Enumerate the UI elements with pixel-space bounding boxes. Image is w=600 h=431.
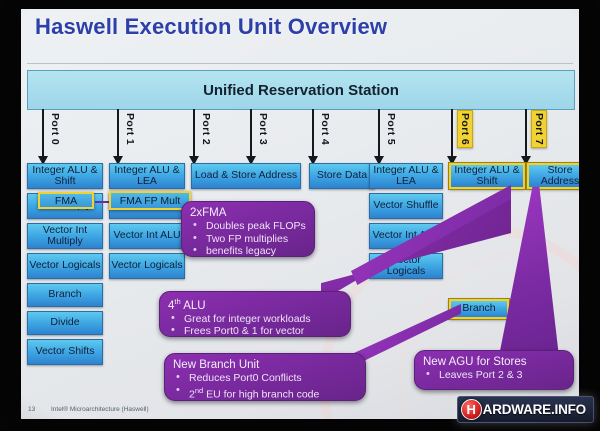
callout-4th-alu-heading-rest: ALU [181, 300, 206, 312]
unit-port0-vector-shifts: Vector Shifts [27, 339, 103, 365]
unit-port0-vector-int-multiply: Vector Int Multiply [27, 223, 103, 249]
unit-port0-branch: Branch [27, 283, 103, 307]
callout-new-branch-unit-bullet-1: Reduces Port0 Conflicts [173, 372, 357, 385]
unit-port0-integer-alu-shift: Integer ALU & Shift [27, 163, 103, 189]
callout-new-branch-unit-bullets: Reduces Port0 Conflicts 2nd EU for high … [173, 372, 357, 401]
hardware-info-text: ARDWARE.INFO [483, 402, 586, 417]
port-label-port5: Port 5 [385, 113, 397, 145]
callout-new-branch-unit: New Branch Unit Reduces Port0 Conflicts … [164, 353, 366, 401]
presentation-slide: Haswell Execution Unit Overview Unified … [21, 9, 579, 419]
callout-2xfma-bullets: Doubles peak FLOPs Two FP multiplies ben… [190, 220, 306, 258]
port1-arrow [117, 109, 119, 157]
callout-4th-alu-bullet-2: Frees Port0 & 1 for vector [168, 325, 342, 338]
port5-arrow [378, 109, 380, 157]
unit-port23-load-store-address: Load & Store Address [191, 163, 301, 189]
port-label-port4: Port 4 [319, 113, 331, 145]
callout-new-branch-unit-bullet-2: 2nd EU for high branch code [173, 385, 357, 401]
unit-port5-integer-alu-lea: Integer ALU & LEA [369, 163, 443, 189]
callout-4th-alu: 4th ALU Great for integer workloads Free… [159, 291, 351, 337]
callout-new-agu: New AGU for Stores Leaves Port 2 & 3 [414, 350, 574, 390]
port2-arrow [193, 109, 195, 157]
port6-arrow [451, 109, 453, 157]
callout-new-branch-unit-heading: New Branch Unit [173, 359, 357, 371]
callout-4th-alu-heading: 4th ALU [168, 297, 342, 312]
title-divider [27, 63, 573, 64]
unit-port1-vector-logicals: Vector Logicals [109, 253, 185, 279]
slide-number: 13 [28, 406, 35, 413]
unit-port0-vector-logicals: Vector Logicals [27, 253, 103, 279]
port0-arrow [42, 109, 44, 157]
unit-port5-vector-shuffle: Vector Shuffle [369, 193, 443, 219]
slide-title: Haswell Execution Unit Overview [35, 14, 387, 40]
port-label-port0: Port 0 [49, 113, 61, 145]
port-label-port2: Port 2 [200, 113, 212, 145]
unit-port0-divide: Divide [27, 311, 103, 335]
hardware-info-h-icon: H [461, 399, 482, 420]
port-label-port1: Port 1 [124, 113, 136, 145]
unified-reservation-station-label: Unified Reservation Station [203, 82, 399, 99]
callout-branch-bullet2-sup: nd [195, 386, 203, 395]
callout-new-agu-heading: New AGU for Stores [423, 356, 565, 368]
callout-2xfma-bullet-1: Doubles peak FLOPs [190, 220, 306, 233]
unified-reservation-station-box: Unified Reservation Station [27, 70, 575, 110]
callout-2xfma-heading: 2xFMA [190, 207, 306, 219]
callout-new-agu-bullet-1: Leaves Port 2 & 3 [423, 369, 565, 382]
unit-port1-vector-int-alu: Vector Int ALU [109, 223, 185, 249]
annotation-fma-port0: FMA [38, 192, 94, 209]
photographed-slide-photo: Haswell Execution Unit Overview Unified … [0, 0, 600, 431]
port3-arrow [250, 109, 252, 157]
unit-port4-store-data: Store Data [309, 163, 375, 189]
annotation-fma-port1: FMA FP Mult [109, 191, 191, 210]
port-label-port3: Port 3 [257, 113, 269, 145]
callout-2xfma-bullet-2-cont: benefits legacy [190, 245, 306, 258]
unit-port1-integer-alu-lea: Integer ALU & LEA [109, 163, 185, 189]
callout-branch-bullet2-rest: EU for high branch code [203, 388, 319, 400]
unit-port6-integer-alu-shift: Integer ALU & Shift [449, 163, 525, 189]
hardware-info-watermark: H ARDWARE.INFO [457, 396, 594, 423]
slide-footer-text: Intel® Microarchitecture (Haswell) [51, 406, 149, 413]
port-label-port6: Port 6 [457, 110, 473, 148]
callout-2xfma-bullet-2: Two FP multiplies [190, 233, 306, 246]
port4-arrow [312, 109, 314, 157]
callout-4th-alu-bullet-1: Great for integer workloads [168, 313, 342, 326]
callout-new-agu-bullets: Leaves Port 2 & 3 [423, 369, 565, 382]
callout-4th-alu-bullets: Great for integer workloads Frees Port0 … [168, 313, 342, 338]
port7-arrow [525, 109, 527, 157]
port-label-port7: Port 7 [531, 110, 547, 148]
unit-port7-store-address: Store Address [527, 163, 579, 189]
callout-2xfma: 2xFMA Doubles peak FLOPs Two FP multipli… [181, 201, 315, 257]
